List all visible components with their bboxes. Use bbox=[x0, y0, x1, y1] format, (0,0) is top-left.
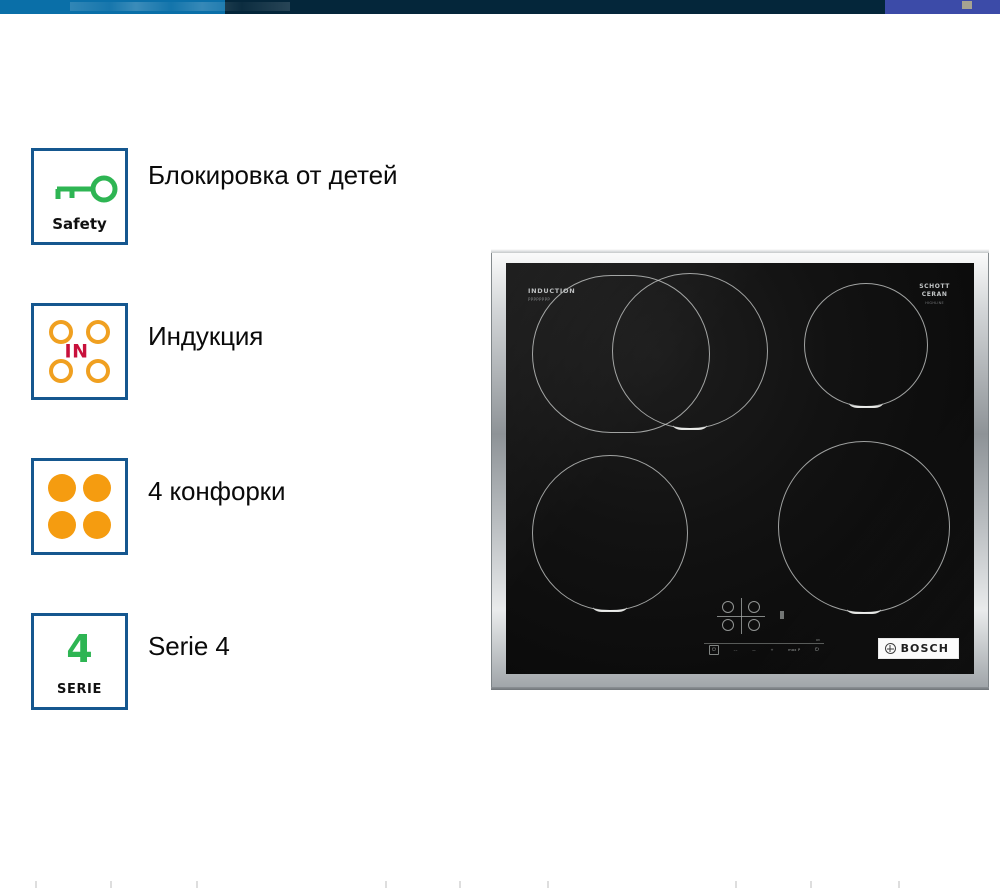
lock-key[interactable]: ⏻ bbox=[815, 647, 819, 653]
burner-bottom-right bbox=[83, 511, 111, 539]
feature-row: Safety Блокировка от детей bbox=[31, 148, 451, 303]
zone-front-left[interactable] bbox=[532, 455, 688, 611]
burner-top-right bbox=[83, 474, 111, 502]
selector-zone-rear-left[interactable] bbox=[722, 601, 734, 613]
power-key[interactable]: ⏻ bbox=[709, 645, 719, 655]
induction-icon-caption: IN bbox=[28, 340, 125, 362]
induction-rings-icon: IN bbox=[34, 306, 125, 397]
header-primary-bar bbox=[0, 0, 225, 14]
feature-label: 4 конфорки bbox=[148, 458, 285, 506]
zone-rear-right[interactable] bbox=[804, 283, 928, 407]
safety-icon-caption: Safety bbox=[34, 215, 125, 233]
burner-top-left bbox=[48, 474, 76, 502]
zone-marker bbox=[673, 425, 707, 430]
burners-icon-box bbox=[31, 458, 128, 555]
feature-label: Индукция bbox=[148, 303, 263, 351]
feature-row: IN Индукция bbox=[31, 303, 451, 458]
cooktop-control-panel[interactable]: on ⏻ –– — + max P ⏻ bbox=[704, 600, 824, 656]
header-ghost-text bbox=[70, 2, 290, 11]
burner-bottom-left bbox=[48, 511, 76, 539]
ring-bottom-right bbox=[86, 359, 110, 383]
cooktop-glass-surface: INDUCTION PPPPPPPP SCHOTT CERAN HIGHLINE bbox=[506, 263, 974, 674]
feature-label: Блокировка от детей bbox=[148, 148, 397, 190]
boost-key[interactable]: max P bbox=[788, 648, 800, 652]
bosch-armature-icon bbox=[885, 643, 896, 654]
schott-ceran-logo: SCHOTT CERAN HIGHLINE bbox=[919, 283, 950, 305]
header-glint-icon bbox=[962, 1, 972, 9]
serie-icon-box: 4 SERIE bbox=[31, 613, 128, 710]
bosch-logo: BOSCH bbox=[879, 639, 958, 658]
selector-zone-front-left[interactable] bbox=[722, 619, 734, 631]
zone-marker bbox=[849, 403, 883, 408]
product-image: INDUCTION PPPPPPPP SCHOTT CERAN HIGHLINE bbox=[491, 249, 989, 690]
slider-key[interactable]: — bbox=[752, 648, 756, 652]
cooktop-stainless-frame: INDUCTION PPPPPPPP SCHOTT CERAN HIGHLINE bbox=[491, 249, 989, 690]
serie-number: 4 bbox=[34, 630, 125, 668]
feature-row: 4 конфорки bbox=[31, 458, 451, 613]
pan-detection-indicator bbox=[780, 611, 784, 619]
control-hint-label: on bbox=[816, 638, 820, 642]
four-burners-icon bbox=[34, 461, 125, 552]
ceran-subtitle: HIGHLINE bbox=[919, 301, 950, 305]
selector-zone-rear-right[interactable] bbox=[748, 601, 760, 613]
bosch-wordmark: BOSCH bbox=[901, 642, 949, 655]
page-header-strip bbox=[0, 0, 1000, 14]
zone-marker bbox=[593, 607, 627, 612]
header-accent-bar bbox=[885, 0, 1000, 14]
zone-marker bbox=[847, 609, 881, 614]
zone-selector-grid[interactable] bbox=[720, 600, 762, 632]
induction-icon-box: IN bbox=[31, 303, 128, 400]
page-footer-marks bbox=[0, 874, 1000, 890]
selector-zone-front-right[interactable] bbox=[748, 619, 760, 631]
ring-bottom-left bbox=[49, 359, 73, 383]
feature-list: Safety Блокировка от детей IN Индукция bbox=[31, 148, 451, 768]
ceran-line-1: SCHOTT bbox=[919, 283, 950, 291]
safety-icon-box: Safety bbox=[31, 148, 128, 245]
feature-label: Serie 4 bbox=[148, 613, 230, 661]
touch-control-bar[interactable]: ⏻ –– — + max P ⏻ bbox=[704, 643, 824, 656]
zone-rear-left-circle[interactable] bbox=[612, 273, 768, 429]
ceran-line-2: CERAN bbox=[919, 291, 950, 299]
safety-key-icon bbox=[34, 173, 125, 207]
header-dark-bar bbox=[225, 0, 885, 14]
zone-front-right[interactable] bbox=[778, 441, 950, 613]
serie-caption: SERIE bbox=[34, 682, 125, 697]
selector-divider-horizontal bbox=[717, 616, 765, 617]
minus-key[interactable]: –– bbox=[734, 648, 738, 652]
plus-key[interactable]: + bbox=[770, 648, 773, 652]
feature-row: 4 SERIE Serie 4 bbox=[31, 613, 451, 768]
